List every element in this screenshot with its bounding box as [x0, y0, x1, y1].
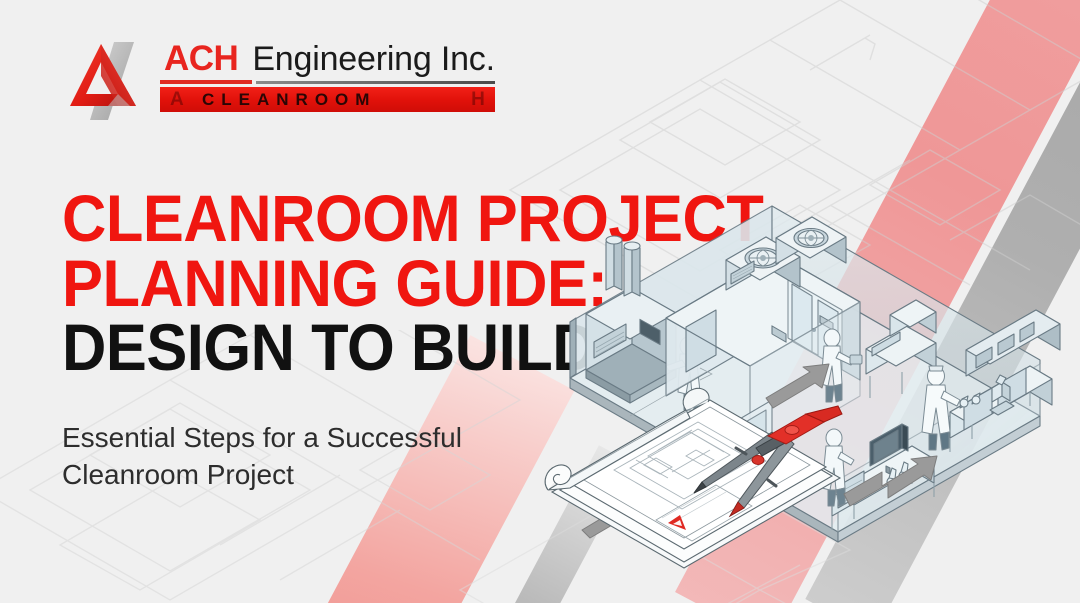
ach-triangle-logo-icon [68, 36, 146, 120]
subheadline-line-2: Cleanroom Project [62, 457, 582, 494]
logo-ghost-a-letter: A [170, 89, 184, 111]
logo-engineering-text: Engineering Inc. [252, 42, 495, 76]
logo-cleanroom-bar: A CLEANROOM H [160, 87, 495, 112]
logo-cleanroom-text: CLEANROOM [202, 90, 376, 110]
marketing-banner: ACH Engineering Inc. A CLEANROOM H CLEAN… [0, 0, 1080, 603]
logo-wordmark: ACH Engineering Inc. A CLEANROOM H [160, 36, 495, 112]
logo-ghost-h-letter: H [471, 89, 485, 111]
logo-ach-block: ACH [160, 40, 242, 77]
logo-ach-text: ACH [164, 41, 238, 76]
logo-gray-underline [256, 81, 495, 84]
brand-logo[interactable]: ACH Engineering Inc. A CLEANROOM H [68, 36, 495, 120]
logo-red-underline [160, 80, 252, 84]
isometric-cleanroom-facility-illustration [540, 160, 1080, 580]
subheadline-block: Essential Steps for a Successful Cleanro… [62, 420, 582, 494]
subheadline-line-1: Essential Steps for a Successful [62, 420, 582, 457]
